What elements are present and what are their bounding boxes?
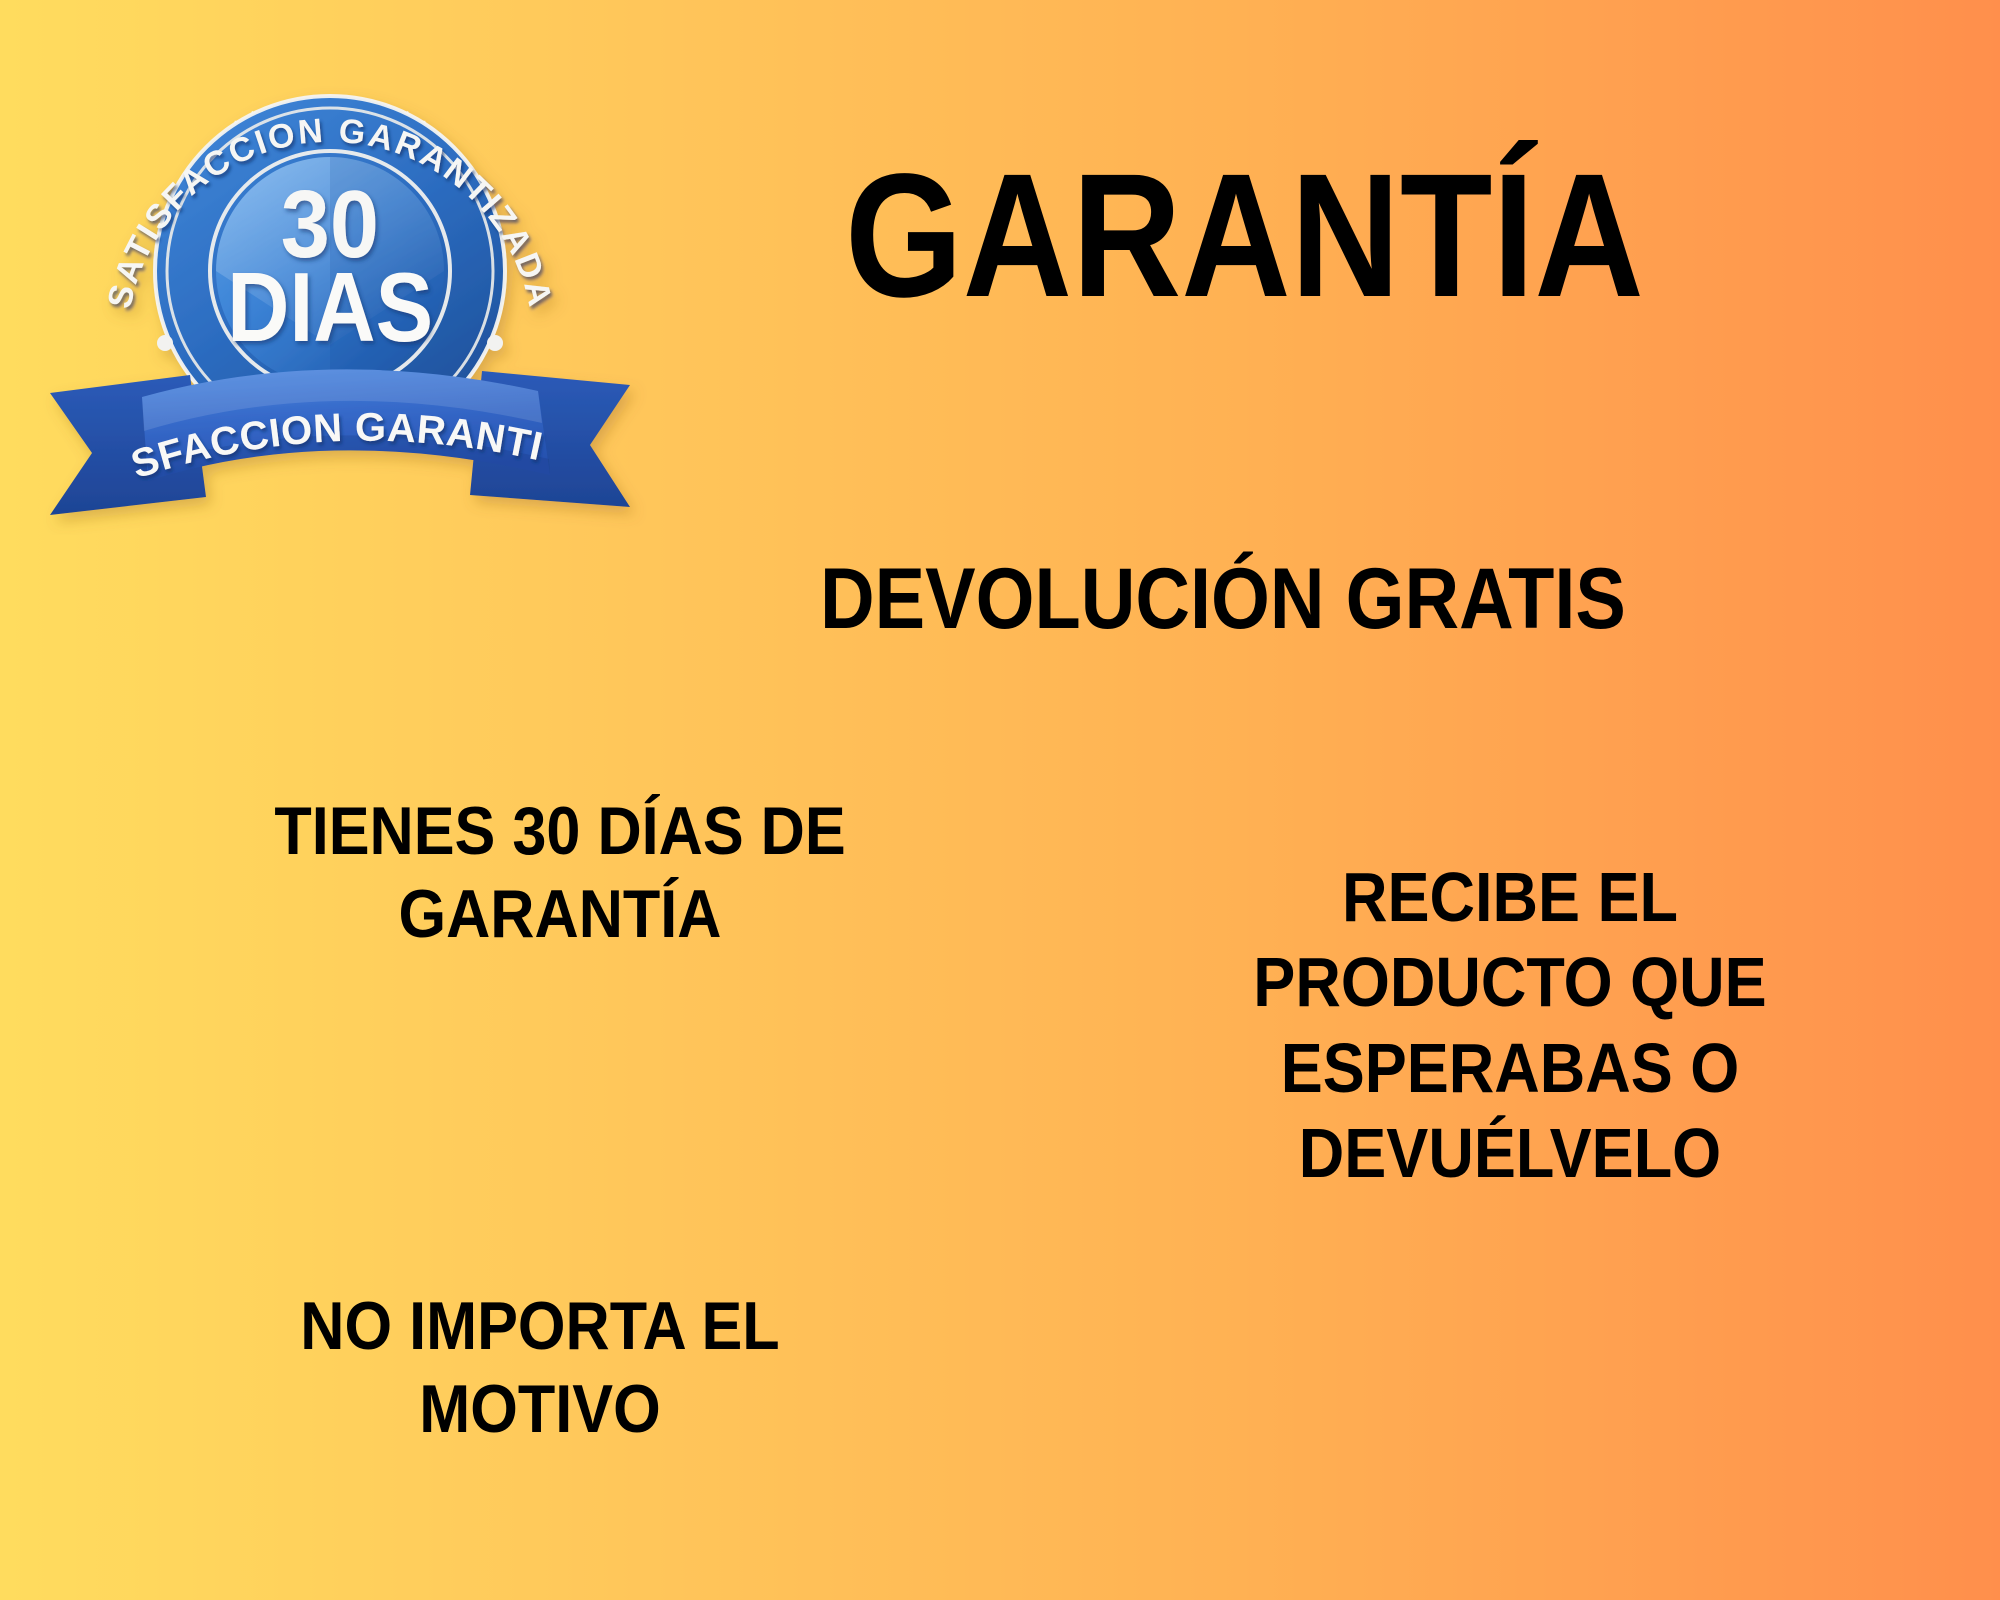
page-title: GARANTÍA bbox=[845, 148, 1644, 324]
benefit-line: GARANTÍA bbox=[110, 873, 1010, 956]
ring-dot-right bbox=[487, 335, 503, 351]
benefit-right: RECIBE EL PRODUCTO QUE ESPERABAS O DEVUÉ… bbox=[1030, 855, 1990, 1197]
satisfaction-guarantee-badge: SATISFACCION GARANTIZADA 30 DIAS bbox=[30, 45, 650, 535]
benefit-line: RECIBE EL bbox=[1078, 855, 1942, 940]
svg-text:DIAS: DIAS bbox=[227, 252, 433, 362]
benefit-line: NO IMPORTA EL bbox=[108, 1285, 972, 1368]
benefit-line: TIENES 30 DÍAS DE bbox=[110, 790, 1010, 873]
ring-dot-left bbox=[157, 335, 173, 351]
benefit-line: PRODUCTO QUE bbox=[1078, 940, 1942, 1025]
guarantee-poster: SATISFACCION GARANTIZADA 30 DIAS bbox=[0, 0, 2000, 1600]
page-subtitle: DEVOLUCIÓN GRATIS bbox=[820, 556, 1626, 642]
benefit-line: ESPERABAS O bbox=[1078, 1026, 1942, 1111]
benefit-left-bottom: NO IMPORTA EL MOTIVO bbox=[60, 1285, 1020, 1451]
benefit-line: MOTIVO bbox=[108, 1368, 972, 1451]
benefit-left-top: TIENES 30 DÍAS DE GARANTÍA bbox=[60, 790, 1060, 956]
benefit-line: DEVUÉLVELO bbox=[1078, 1111, 1942, 1196]
